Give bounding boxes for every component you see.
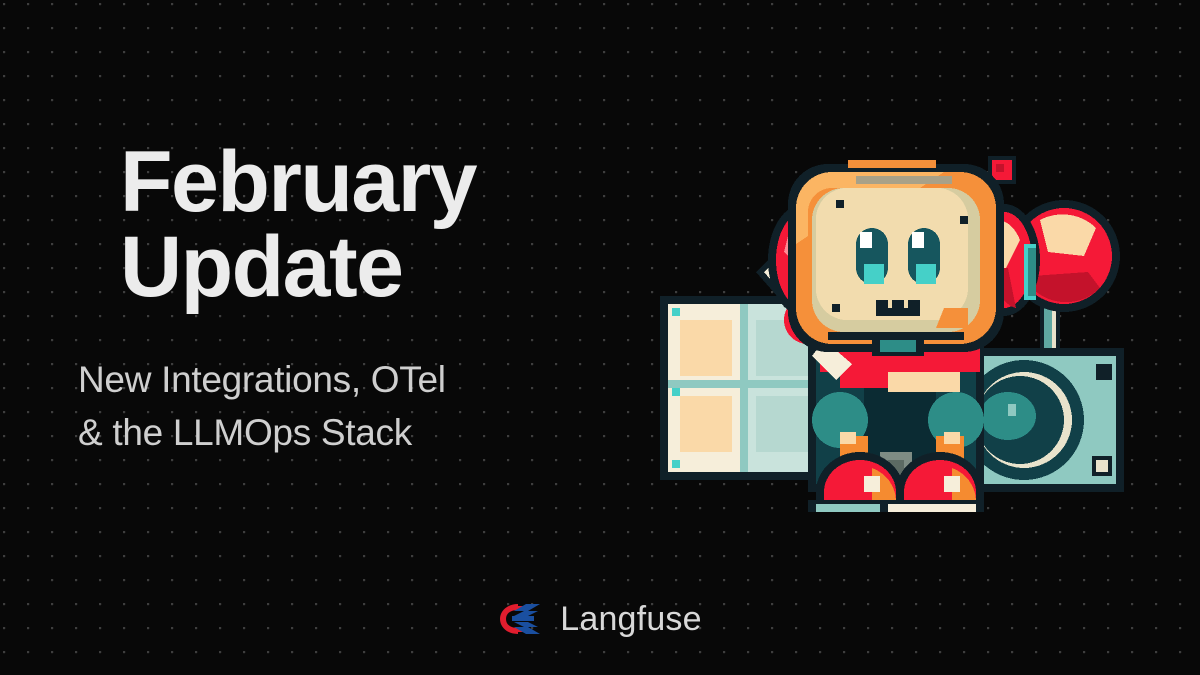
- robot-head: [788, 160, 1004, 356]
- page-title: February Update: [78, 140, 638, 310]
- hero-text-block: February Update New Integrations, OTel &…: [78, 140, 638, 459]
- brand-footer: Langfuse: [0, 602, 1200, 636]
- pixel-art-robot-mascot: [640, 108, 1152, 512]
- langfuse-logo-icon: [498, 602, 542, 636]
- brand-name: Langfuse: [560, 602, 702, 636]
- promo-banner: February Update New Integrations, OTel &…: [0, 0, 1200, 675]
- page-subtitle: New Integrations, OTel & the LLMOps Stac…: [78, 310, 638, 459]
- tech-panel: [964, 348, 1124, 492]
